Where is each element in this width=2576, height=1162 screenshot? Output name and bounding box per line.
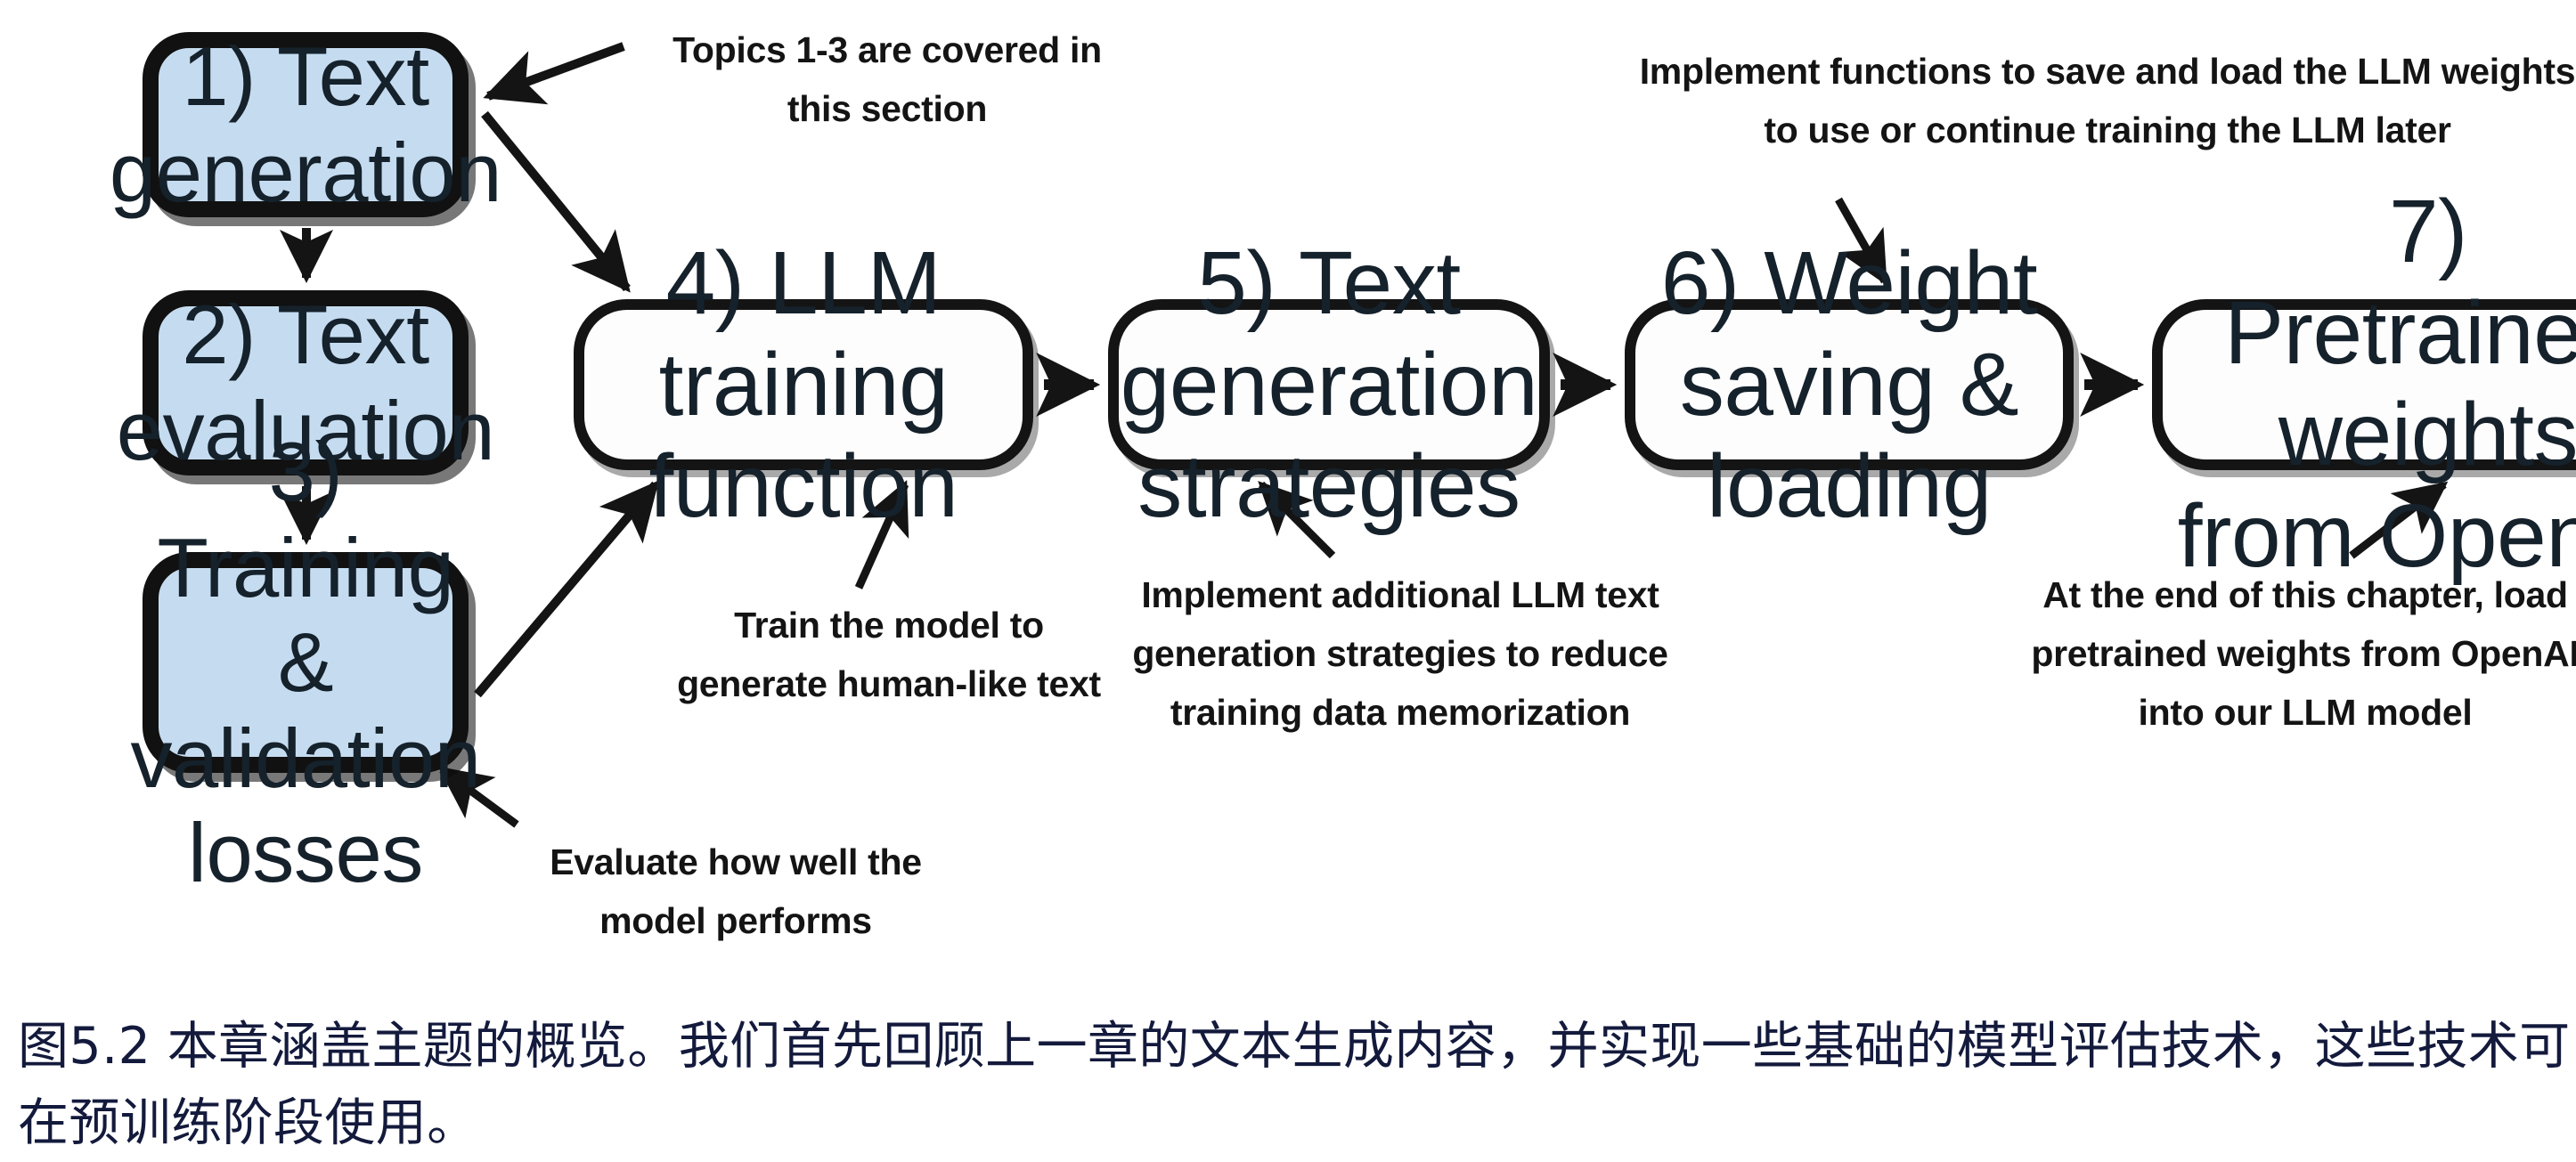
- annotation-openai-weights: At the end of this chapter, loadpretrain…: [1985, 566, 2576, 744]
- annotation-evaluate-model: Evaluate how well themodel performs: [502, 833, 969, 952]
- annotation-weight-save-load: Implement functions to save and load the…: [1564, 43, 2576, 161]
- node-label: 3) Training& validationlosses: [119, 424, 491, 901]
- annotation-train-model: Train the model togenerate human-like te…: [656, 597, 1122, 715]
- node-label: 7) Pretrained weightsfrom OpenAI: [2163, 182, 2576, 588]
- node-label: 4) LLM trainingfunction: [584, 232, 1023, 537]
- figure-canvas: 1) Textgeneration 2) Textevaluation 3) T…: [0, 0, 2576, 1136]
- annotation-generation-strategies: Implement additional LLM textgeneration …: [1097, 566, 1703, 744]
- node-text-generation-strategies[interactable]: 5) Text generationstrategies: [1108, 299, 1550, 470]
- node-llm-training-function[interactable]: 4) LLM trainingfunction: [574, 299, 1033, 470]
- node-label: 1) Textgeneration: [99, 29, 512, 220]
- node-training-validation-losses[interactable]: 3) Training& validationlosses: [143, 552, 469, 773]
- node-weight-saving-loading[interactable]: 6) Weight saving &loading: [1625, 299, 2074, 470]
- node-label: 5) Text generationstrategies: [1110, 232, 1549, 537]
- node-label: 6) Weight saving &loading: [1635, 232, 2063, 537]
- node-text-generation[interactable]: 1) Textgeneration: [143, 32, 469, 217]
- node-pretrained-weights-openai[interactable]: 7) Pretrained weightsfrom OpenAI: [2152, 299, 2576, 470]
- figure-caption: 图5.2 本章涵盖主题的概览。我们首先回顾上一章的文本生成内容，并实现一些基础的…: [18, 1008, 2576, 1162]
- annotation-topics: Topics 1-3 are covered inthis section: [638, 21, 1137, 140]
